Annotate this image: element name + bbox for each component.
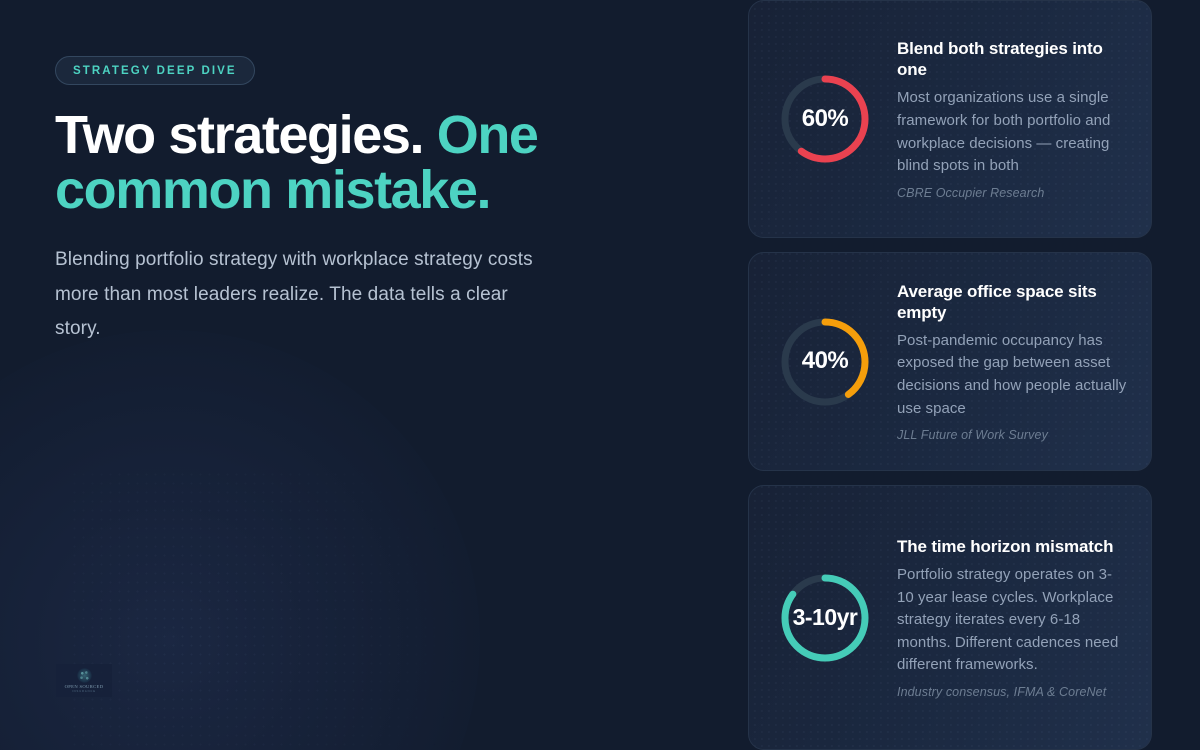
- eyebrow-badge: STRATEGY DEEP DIVE: [55, 56, 255, 85]
- stat-card[interactable]: 40% Average office space sits empty Post…: [748, 252, 1152, 471]
- stat-card[interactable]: 3-10yr The time horizon mismatch Portfol…: [748, 485, 1152, 750]
- donut-value-label: 3-10yr: [777, 570, 873, 666]
- stat-card-description: Post-pandemic occupancy has exposed the …: [897, 330, 1127, 420]
- stat-card-title: The time horizon mismatch: [897, 536, 1127, 557]
- hero-subhead: Blending portfolio strategy with workpla…: [55, 243, 535, 347]
- stat-card-title: Average office space sits empty: [897, 281, 1127, 323]
- headline-lead: Two strategies.: [55, 105, 437, 165]
- donut-value-label: 60%: [777, 71, 873, 167]
- stat-card[interactable]: 60% Blend both strategies into one Most …: [748, 0, 1152, 238]
- globe-icon: [77, 668, 92, 683]
- progress-donut: 3-10yr: [777, 570, 873, 666]
- stat-card-source: CBRE Occupier Research: [897, 186, 1127, 200]
- stat-card-source: JLL Future of Work Survey: [897, 428, 1127, 442]
- page-title: Two strategies. One common mistake.: [55, 108, 675, 218]
- hero-pane: STRATEGY DEEP DIVE Two strategies. One c…: [0, 0, 748, 750]
- stat-card-title: Blend both strategies into one: [897, 38, 1127, 80]
- stat-cards-list: 60% Blend both strategies into one Most …: [748, 0, 1200, 750]
- brand-tagline: INSURANCE: [72, 690, 96, 693]
- stat-card-description: Portfolio strategy operates on 3-10 year…: [897, 564, 1127, 677]
- donut-value-label: 40%: [777, 314, 873, 410]
- progress-donut: 40%: [777, 314, 873, 410]
- brand-watermark: OPEN SOURCED INSURANCE: [56, 664, 112, 697]
- stat-card-source: Industry consensus, IFMA & CoreNet: [897, 685, 1127, 699]
- eyebrow-badge-label: STRATEGY DEEP DIVE: [73, 65, 237, 77]
- progress-donut: 60%: [777, 71, 873, 167]
- brand-name: OPEN SOURCED: [65, 684, 104, 689]
- stat-card-description: Most organizations use a single framewor…: [897, 87, 1127, 177]
